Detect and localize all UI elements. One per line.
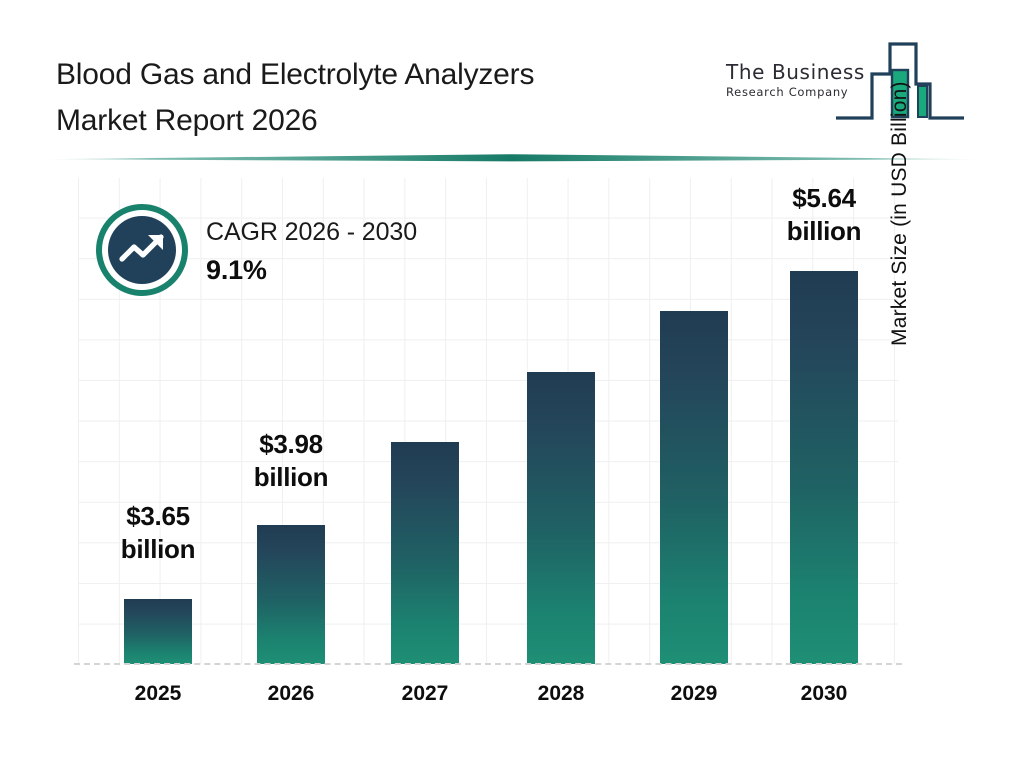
cagr-text-block: CAGR 2026 - 2030 9.1% bbox=[206, 218, 417, 286]
value-label-2025: $3.65 billion bbox=[90, 500, 226, 566]
value-label-2026: $3.98 billion bbox=[223, 428, 359, 494]
bar-2030 bbox=[790, 271, 858, 664]
x-tick-2030: 2030 bbox=[764, 682, 884, 706]
cagr-badge: CAGR 2026 - 2030 9.1% bbox=[96, 204, 496, 300]
trending-up-icon bbox=[96, 204, 188, 296]
x-tick-2027: 2027 bbox=[365, 682, 485, 706]
x-tick-2028: 2028 bbox=[501, 682, 621, 706]
value-label-2030: $5.64 billion bbox=[756, 182, 892, 248]
bar-2027 bbox=[391, 442, 459, 664]
x-axis-baseline bbox=[74, 663, 902, 665]
x-tick-2025: 2025 bbox=[98, 682, 218, 706]
bar-chart: $3.65 billion $3.98 billion $5.64 billio… bbox=[0, 0, 1024, 768]
bar-2028 bbox=[527, 372, 595, 664]
bar-2026 bbox=[257, 525, 325, 664]
y-axis-title: Market Size (in USD Billion) bbox=[888, 0, 912, 346]
cagr-period-label: CAGR 2026 - 2030 bbox=[206, 218, 417, 247]
bar-2029 bbox=[660, 311, 728, 664]
x-tick-2029: 2029 bbox=[634, 682, 754, 706]
x-tick-2026: 2026 bbox=[231, 682, 351, 706]
cagr-value-label: 9.1% bbox=[206, 255, 417, 286]
bar-2025 bbox=[124, 599, 192, 664]
